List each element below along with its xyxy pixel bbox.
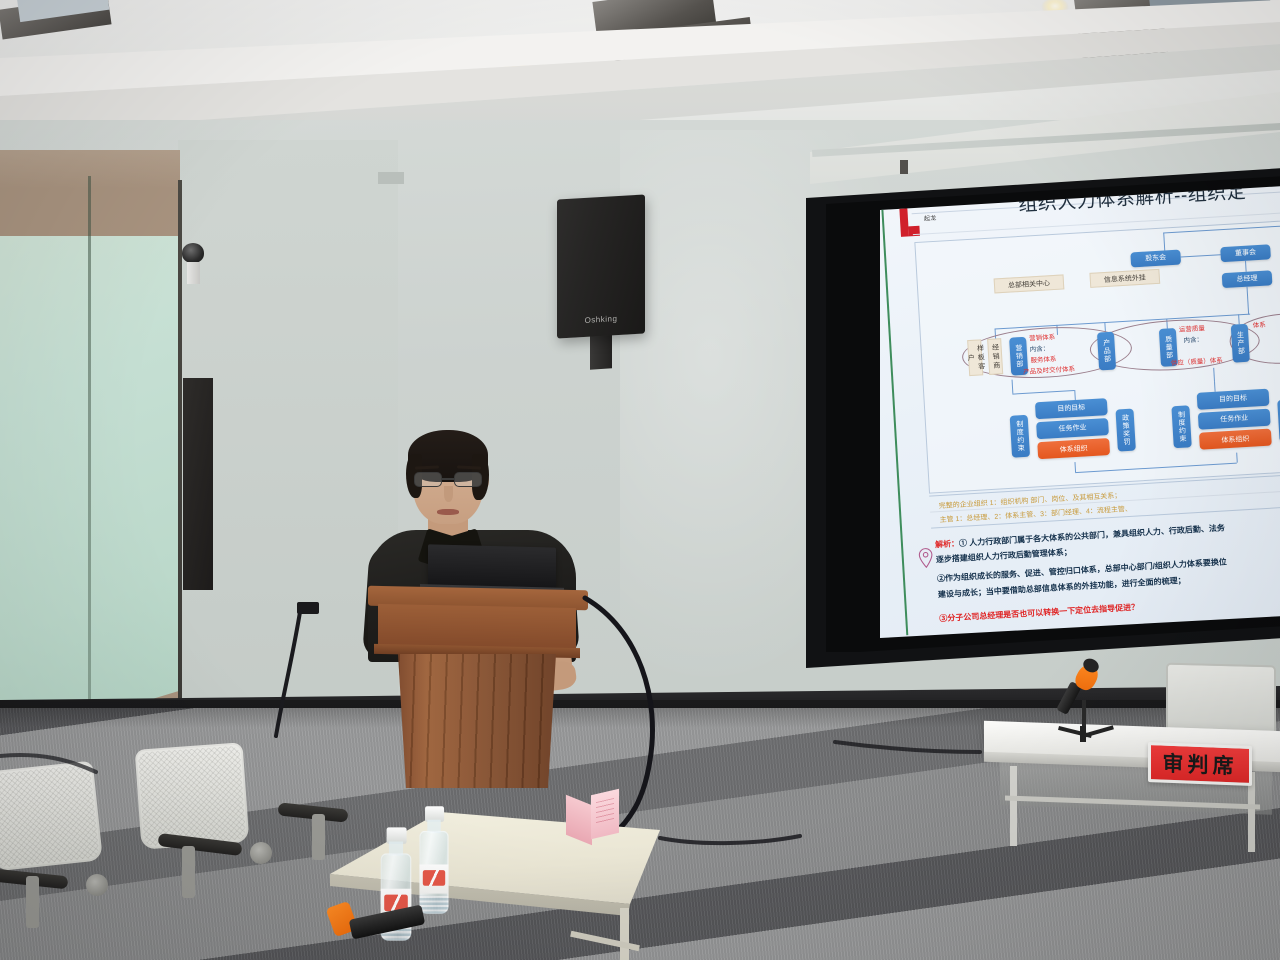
- projection-screen[interactable]: 起龙 组织人力体系解析--组织定 股东会 董事会 总经理 总部相关中心: [880, 186, 1280, 638]
- node-policy-1: 政策奖罚: [1115, 409, 1135, 452]
- security-camera-icon: [182, 243, 204, 263]
- node-system-org-2: 体系组织: [1199, 429, 1272, 450]
- node-institution-1: 制度约束: [1010, 415, 1030, 458]
- connector: [1074, 390, 1076, 400]
- conference-room-photo: Oshking 起龙 组织人力体系解析--组织定 股东会: [0, 0, 1280, 960]
- node-board: 董事会: [1220, 244, 1271, 262]
- node-goal-1: 目的目标: [1035, 398, 1108, 419]
- org-diagram: 股东会 董事会 总经理 总部相关中心 信息系统外挂: [914, 219, 1280, 494]
- label-contains-2: 内含：: [1183, 336, 1203, 345]
- wall-mounted-dark-panel: [183, 378, 213, 590]
- analysis-line-1: ① 人力行政部门属于各大体系的公共部门，兼具组织人力、行政后勤、法务: [959, 523, 1225, 548]
- chair-group-left: [0, 740, 350, 960]
- node-product-dept: 产品部: [1097, 332, 1116, 371]
- node-dealer: 经销商: [987, 338, 1003, 375]
- connector: [1238, 314, 1240, 324]
- connector: [1247, 287, 1250, 315]
- connector: [1214, 382, 1216, 392]
- table-leg: [1010, 766, 1017, 846]
- label-service-system: 服务体系: [1030, 356, 1056, 366]
- label-marketing-system: 营销体系: [1029, 334, 1055, 344]
- logo-text: 起龙: [924, 213, 937, 223]
- left-glass-partition: [0, 236, 182, 736]
- camera-mount: [187, 262, 200, 284]
- connector: [1181, 254, 1221, 257]
- node-general-manager: 总经理: [1222, 270, 1273, 288]
- wall-box: [378, 172, 404, 184]
- node-goal-2: 目的目标: [1197, 389, 1270, 410]
- connector: [1012, 390, 1074, 395]
- podium-side-device: [297, 602, 319, 614]
- connector: [1163, 226, 1280, 234]
- label-system-right: 体系: [1253, 322, 1266, 331]
- speaker-bracket: [590, 332, 612, 370]
- connector: [1012, 380, 1014, 394]
- podium: [372, 588, 584, 788]
- label-operation-quality: 运营质量: [1179, 325, 1205, 335]
- wall-speaker: Oshking: [557, 194, 645, 338]
- node-hq-center: 总部相关中心: [994, 274, 1065, 293]
- front-table-leg: [620, 908, 629, 960]
- node-institution-2: 制度约束: [1171, 405, 1191, 448]
- node-info-system: 信息系统外挂: [1089, 269, 1160, 288]
- judges-bench-sign: 审判席: [1148, 742, 1252, 786]
- front-table-rail: [570, 931, 640, 951]
- connector: [1213, 368, 1215, 382]
- node-production-dept: 生产部: [1231, 324, 1250, 363]
- judges-bench-sign-text: 审判席: [1163, 748, 1238, 781]
- location-pin-icon: [917, 548, 934, 569]
- nose: [444, 486, 453, 502]
- analysis-line-5: ③分子公司总经理是否也可以转换一下定位去指导促进？: [939, 602, 1139, 626]
- microphone-tripod-leg: [1080, 726, 1086, 742]
- connector: [1245, 261, 1247, 272]
- connector: [1163, 232, 1165, 250]
- microphone-foreground[interactable]: [330, 898, 450, 944]
- label-contains-1: 内含：: [1030, 345, 1050, 354]
- pink-name-card: [566, 792, 622, 840]
- connector: [1074, 462, 1076, 472]
- speaker-brand-label: Oshking: [557, 312, 645, 326]
- node-shareholders: 股东会: [1130, 250, 1181, 268]
- label-supply-quality: 供应（质量）体系: [1171, 357, 1223, 368]
- analysis-label: 解析：: [935, 539, 959, 549]
- connector: [1075, 463, 1237, 473]
- node-task-1: 任务作业: [1036, 418, 1109, 439]
- node-sample-customer: 样板客户: [967, 339, 983, 376]
- node-system-org-1: 体系组织: [1037, 438, 1110, 459]
- slide-content: 起龙 组织人力体系解析--组织定 股东会 董事会 总经理 总部相关中心: [880, 186, 1280, 638]
- node-task-2: 任务作业: [1198, 409, 1271, 430]
- connector: [1236, 453, 1238, 463]
- screen-mount: [900, 160, 908, 174]
- podium-grooves: [398, 654, 556, 788]
- mouth: [437, 509, 459, 515]
